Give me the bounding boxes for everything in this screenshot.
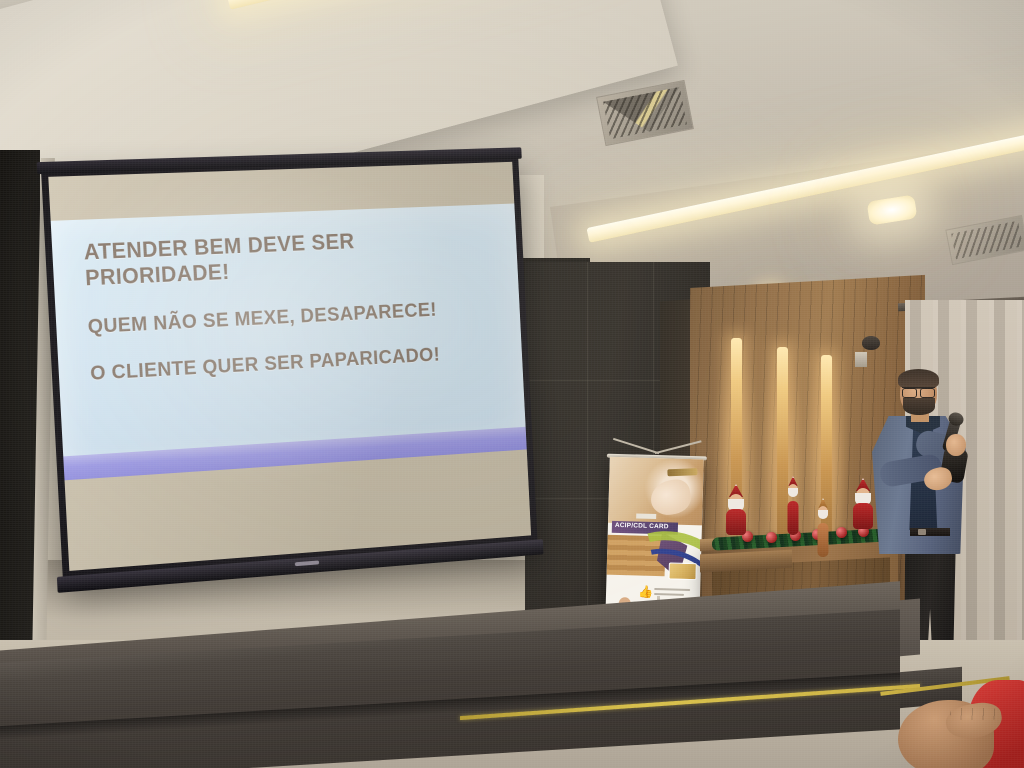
christmas-bauble (766, 532, 777, 543)
screen-canvas: ATENDER BEM DEVE SER PRIORIDADE! QUEM NÃ… (48, 162, 531, 571)
presenter-belt (910, 528, 950, 536)
banner-small-tag (636, 513, 656, 519)
santa-figurine (814, 498, 832, 538)
slide-line-2: QUEM NÃO SE MEXE, DESAPARECE! (87, 296, 507, 339)
santa-figurine (722, 484, 750, 538)
audience-member-foreground (898, 676, 1024, 768)
photo-scene: ATENDER BEM DEVE SER PRIORIDADE! QUEM NÃ… (0, 0, 1024, 768)
santa-beard (788, 488, 798, 497)
banner-photo-hand (648, 477, 693, 518)
slide-bottom-band (63, 427, 527, 481)
banner-credit-card-graphic (668, 562, 696, 580)
slide-line-1: ATENDER BEM DEVE SER PRIORIDADE! (83, 223, 505, 290)
wall-mounted-box (855, 352, 867, 367)
santa-body (726, 509, 746, 535)
banner-brand-text: ACIP/CDL CARD (615, 522, 669, 530)
projected-slide: ATENDER BEM DEVE SER PRIORIDADE! QUEM NÃ… (51, 204, 527, 481)
christmas-bauble (836, 527, 847, 538)
glasses-icon (902, 387, 935, 396)
presenter-hair (898, 369, 939, 389)
slide-text-block: ATENDER BEM DEVE SER PRIORIDADE! QUEM NÃ… (83, 223, 510, 389)
santa-body (818, 523, 829, 557)
slide-line-3: O CLIENTE QUER SER PAPARICADO! (90, 341, 510, 387)
ceiling-speaker-icon (862, 336, 880, 350)
presenter-beard (903, 398, 935, 415)
santa-body (788, 501, 799, 535)
banner-photo-caption-bar (667, 468, 697, 476)
santa-beard (818, 510, 828, 519)
audience-fingers (950, 708, 998, 720)
projection-screen: ATENDER BEM DEVE SER PRIORIDADE! QUEM NÃ… (41, 153, 538, 582)
presenter-hand-holding-mic (946, 434, 966, 456)
santa-figurine (784, 476, 802, 536)
